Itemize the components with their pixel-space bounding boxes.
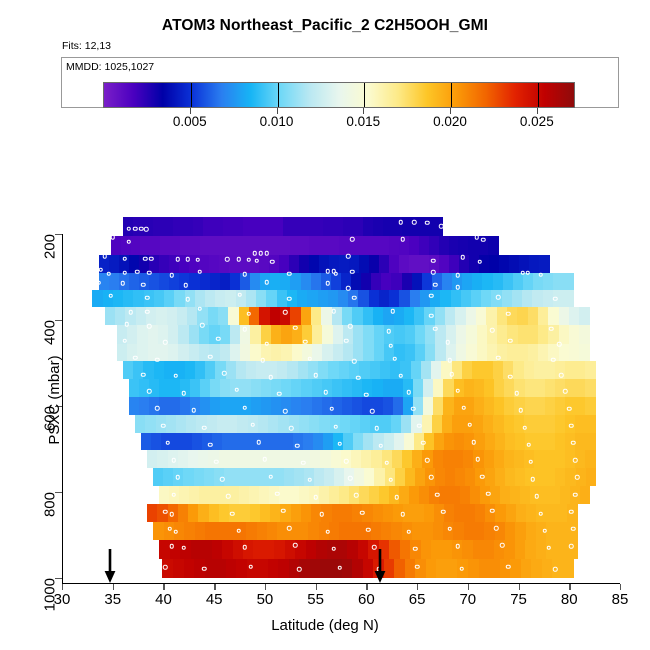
observation-marker <box>307 356 312 361</box>
observation-marker <box>401 512 406 517</box>
heatmap-cell <box>117 344 128 361</box>
observation-marker <box>455 273 460 278</box>
observation-marker <box>144 227 149 232</box>
heatmap-cell <box>159 486 170 504</box>
y-tick-label: 200 <box>42 234 59 259</box>
heatmap-cell <box>218 307 229 325</box>
heatmap-cell <box>347 540 358 558</box>
heatmap-cell <box>310 559 321 578</box>
observation-marker <box>169 512 174 517</box>
heatmap-cell <box>495 522 506 540</box>
heatmap-cell <box>585 415 596 433</box>
heatmap-cell <box>409 486 420 504</box>
observation-marker <box>449 372 454 377</box>
heatmap-cell <box>557 522 568 540</box>
observation-marker <box>346 254 351 259</box>
heatmap-cell <box>452 415 463 433</box>
heatmap-cell <box>517 307 528 325</box>
observation-marker <box>287 271 292 276</box>
heatmap-cell <box>184 522 195 540</box>
heatmap-cell <box>215 361 226 379</box>
heatmap-cell <box>333 325 344 343</box>
heatmap-cell <box>191 540 202 558</box>
heatmap-cell <box>384 433 395 451</box>
heatmap-cell <box>151 433 162 451</box>
heatmap-cell <box>249 307 260 325</box>
heatmap-panel <box>62 205 620 583</box>
observation-marker <box>226 494 231 499</box>
heatmap-cell <box>228 307 239 325</box>
heatmap-cell <box>458 236 469 254</box>
heatmap-cell <box>465 504 476 522</box>
observation-marker <box>522 425 527 430</box>
heatmap-cell <box>405 344 416 361</box>
heatmap-cell <box>555 397 566 415</box>
heatmap-cell <box>277 522 288 540</box>
heatmap-cell <box>495 468 506 486</box>
heatmap-cell <box>268 559 279 578</box>
heatmap-cell <box>205 290 216 307</box>
heatmap-cell <box>170 379 181 397</box>
heatmap-cell <box>393 379 404 397</box>
heatmap-cell <box>131 236 142 254</box>
observation-marker <box>575 475 580 480</box>
heatmap-cell <box>262 433 273 451</box>
observation-marker <box>155 406 160 411</box>
heatmap-cell <box>163 217 174 236</box>
heatmap-cell <box>177 307 188 325</box>
observation-marker <box>508 375 513 380</box>
heatmap-cell <box>309 236 320 254</box>
heatmap-cell <box>301 397 312 415</box>
observation-marker <box>202 425 207 430</box>
heatmap-cell <box>575 379 586 397</box>
heatmap-cell <box>391 415 402 433</box>
observation-marker <box>514 391 519 396</box>
observation-marker <box>490 328 495 333</box>
colorbar <box>103 82 575 108</box>
observation-marker <box>390 309 395 314</box>
heatmap-cell <box>195 361 206 379</box>
heatmap-cell <box>433 379 444 397</box>
observation-marker <box>425 221 430 226</box>
heatmap-cell <box>429 236 440 254</box>
heatmap-cell <box>435 468 446 486</box>
observation-marker <box>472 440 477 445</box>
heatmap-cell <box>540 486 551 504</box>
heatmap-cell <box>250 504 261 522</box>
heatmap-cell <box>236 559 247 578</box>
heatmap-cell <box>352 379 363 397</box>
heatmap-cell <box>268 415 279 433</box>
observation-marker <box>520 270 525 275</box>
heatmap-cell <box>497 307 508 325</box>
observation-marker <box>242 545 247 550</box>
heatmap-cell <box>220 344 231 361</box>
heatmap-cell <box>185 361 196 379</box>
observation-marker <box>326 529 331 534</box>
heatmap-cell <box>150 236 161 254</box>
heatmap-cell <box>504 540 515 558</box>
heatmap-cell <box>229 486 240 504</box>
colorbar-gradient <box>104 83 574 107</box>
heatmap-cell <box>472 361 483 379</box>
heatmap-cell <box>563 290 574 307</box>
heatmap-cell <box>272 433 283 451</box>
heatmap-cell <box>159 273 170 290</box>
heatmap-cell <box>449 236 460 254</box>
observation-marker <box>255 258 260 263</box>
heatmap-cell <box>187 307 198 325</box>
observation-marker <box>261 358 266 363</box>
heatmap-cell <box>494 397 505 415</box>
heatmap-cell <box>494 379 505 397</box>
heatmap-cell <box>312 379 323 397</box>
heatmap-cell <box>465 468 476 486</box>
heatmap-cell <box>509 255 520 273</box>
observation-marker <box>171 458 176 463</box>
heatmap-cell <box>405 325 416 343</box>
heatmap-cell <box>433 450 444 468</box>
heatmap-cell <box>381 273 392 290</box>
observation-marker <box>125 322 130 327</box>
heatmap-cell <box>485 468 496 486</box>
heatmap-cell <box>354 468 365 486</box>
observation-marker <box>462 405 467 410</box>
heatmap-cell <box>288 522 299 540</box>
heatmap-cell <box>178 325 189 343</box>
heatmap-cell <box>426 559 437 578</box>
observation-marker <box>236 528 241 533</box>
heatmap-cell <box>280 236 291 254</box>
heatmap-cell <box>556 540 567 558</box>
observation-marker <box>338 565 343 570</box>
heatmap-cell <box>371 450 382 468</box>
heatmap-cell <box>189 325 200 343</box>
observation-marker <box>494 526 499 531</box>
observation-marker <box>350 270 355 275</box>
observation-marker <box>518 408 523 413</box>
heatmap-cell <box>147 450 158 468</box>
heatmap-cell <box>180 236 191 254</box>
heatmap-cell <box>284 468 295 486</box>
colorbar-divider <box>451 83 452 107</box>
heatmap-cell <box>277 290 288 307</box>
observation-marker <box>338 442 343 447</box>
profile-marker-1 <box>104 549 116 583</box>
heatmap-cell <box>483 415 494 433</box>
heatmap-cell <box>339 486 350 504</box>
observation-marker <box>567 406 572 411</box>
heatmap-cell <box>246 522 257 540</box>
heatmap-cell <box>250 325 261 343</box>
observation-marker <box>265 251 270 256</box>
heatmap-cell <box>220 273 231 290</box>
observation-marker <box>460 255 465 260</box>
observation-marker <box>496 356 501 361</box>
heatmap-cell <box>178 450 189 468</box>
heatmap-cell <box>308 522 319 540</box>
y-tick-label: 400 <box>42 320 59 345</box>
heatmap-cell <box>383 217 394 236</box>
heatmap-cell <box>324 468 335 486</box>
heatmap-cell <box>413 379 424 397</box>
heatmap-cell <box>389 540 400 558</box>
heatmap-cell <box>506 504 517 522</box>
heatmap-cell <box>127 325 138 343</box>
heatmap-cell <box>209 486 220 504</box>
heatmap-cell <box>510 486 521 504</box>
observation-marker <box>147 270 152 275</box>
observation-marker <box>573 492 578 497</box>
heatmap-band <box>135 415 596 433</box>
heatmap-cell <box>210 397 221 415</box>
y-tick-label: 800 <box>42 492 59 517</box>
heatmap-cell <box>200 379 211 397</box>
heatmap-cell <box>543 273 554 290</box>
heatmap-cell <box>464 522 475 540</box>
observation-marker <box>173 374 178 379</box>
heatmap-cell <box>394 307 405 325</box>
heatmap-cell <box>173 559 184 578</box>
observation-marker <box>163 510 168 515</box>
heatmap-cell <box>270 273 281 290</box>
heatmap-cell <box>283 433 294 451</box>
observation-marker <box>257 440 262 445</box>
x-tick-label: 60 <box>358 591 375 608</box>
heatmap-cell <box>504 397 515 415</box>
plot-canvas: ATOM3 Northeast_Pacific_2 C2H5OOH_GMI Fi… <box>0 0 650 650</box>
observation-marker <box>399 220 404 225</box>
heatmap-cell <box>281 325 292 343</box>
heatmap-cell <box>439 486 450 504</box>
heatmap-cell <box>332 504 343 522</box>
heatmap-cell <box>351 450 362 468</box>
heatmap-cell <box>490 486 501 504</box>
heatmap-cell <box>230 273 241 290</box>
heatmap-cell <box>565 379 576 397</box>
heatmap-cell <box>559 325 570 343</box>
heatmap-cell <box>253 217 264 236</box>
x-tick <box>265 584 266 590</box>
observation-marker <box>269 474 274 479</box>
observation-marker <box>429 313 434 318</box>
heatmap-cell <box>516 504 527 522</box>
heatmap-cell <box>531 559 542 578</box>
heatmap-cell <box>450 486 461 504</box>
heatmap-cell <box>358 540 369 558</box>
heatmap-cell <box>431 361 442 379</box>
heatmap-cell <box>544 361 555 379</box>
observation-marker <box>557 342 562 347</box>
observation-marker <box>225 257 230 262</box>
observation-marker <box>559 373 564 378</box>
heatmap-cell <box>443 397 454 415</box>
heatmap-cell <box>178 344 189 361</box>
observation-marker <box>490 509 495 514</box>
page-title: ATOM3 Northeast_Pacific_2 C2H5OOH_GMI <box>0 17 650 35</box>
heatmap-cell <box>409 236 420 254</box>
observation-marker <box>265 341 270 346</box>
heatmap-cell <box>513 361 524 379</box>
heatmap-cell <box>273 217 284 236</box>
heatmap-cell <box>311 307 322 325</box>
heatmap-cell <box>258 415 269 433</box>
heatmap-cell <box>129 397 140 415</box>
observation-marker <box>435 492 440 497</box>
observation-marker <box>447 358 452 363</box>
colorbar-divider <box>191 83 192 107</box>
heatmap-cell <box>313 433 324 451</box>
observation-marker <box>186 297 191 302</box>
heatmap-cell <box>323 433 334 451</box>
x-tick <box>163 584 164 590</box>
heatmap-cell <box>297 290 308 307</box>
heatmap-cell <box>384 325 395 343</box>
heatmap-cell <box>455 468 466 486</box>
observation-marker <box>293 543 298 548</box>
heatmap-cell <box>431 540 442 558</box>
observation-marker <box>431 270 436 275</box>
heatmap-cell <box>382 450 393 468</box>
heatmap-cell <box>454 504 465 522</box>
heatmap-cell <box>473 415 484 433</box>
heatmap-cell <box>226 522 237 540</box>
heatmap-cell <box>135 415 146 433</box>
observation-marker <box>354 493 359 498</box>
heatmap-cell <box>230 236 241 254</box>
heatmap-cell <box>179 486 190 504</box>
heatmap-cell <box>415 325 426 343</box>
heatmap-cell <box>393 397 404 415</box>
heatmap-cell <box>421 361 432 379</box>
heatmap-cell <box>514 450 525 468</box>
observation-marker <box>563 389 568 394</box>
heatmap-cell <box>301 504 312 522</box>
observation-marker <box>141 282 146 287</box>
heatmap-cell <box>391 522 402 540</box>
heatmap-cell <box>369 486 380 504</box>
heatmap-cell <box>548 307 559 325</box>
observation-marker <box>169 544 174 549</box>
heatmap-cell <box>222 433 233 451</box>
heatmap-cell <box>503 273 514 290</box>
heatmap-cell <box>196 415 207 433</box>
heatmap-cell <box>188 504 199 522</box>
heatmap-cell <box>454 379 465 397</box>
heatmap-cell <box>219 450 230 468</box>
observation-marker <box>324 390 329 395</box>
heatmap-cell <box>586 468 597 486</box>
heatmap-cell <box>526 504 537 522</box>
heatmap-cell <box>394 433 405 451</box>
y-tick-label: 1000 <box>42 578 59 611</box>
heatmap-cell <box>240 236 251 254</box>
observation-marker <box>407 529 412 534</box>
observation-marker <box>348 476 353 481</box>
heatmap-cell <box>319 415 330 433</box>
heatmap-cell <box>371 273 382 290</box>
heatmap-cell <box>482 273 493 290</box>
heatmap-cell <box>332 397 343 415</box>
observation-marker <box>283 310 288 315</box>
observation-marker <box>147 324 152 329</box>
observation-marker <box>330 406 335 411</box>
heatmap-cell <box>353 433 364 451</box>
heatmap-cell <box>504 415 515 433</box>
heatmap-cell <box>522 290 533 307</box>
heatmap-cell <box>183 217 194 236</box>
observation-marker <box>175 257 180 262</box>
heatmap-cell <box>510 559 521 578</box>
heatmap-cell <box>318 290 329 307</box>
heatmap-cell <box>434 433 445 451</box>
heatmap-cell <box>291 379 302 397</box>
colorbar-tick-label: 0.020 <box>433 114 467 129</box>
heatmap-cell <box>373 504 384 522</box>
heatmap-cell <box>515 522 526 540</box>
heatmap-cell <box>113 290 124 307</box>
observation-marker <box>149 256 154 261</box>
heatmap-cell <box>379 236 390 254</box>
heatmap-cell <box>350 522 361 540</box>
observation-marker <box>455 285 460 290</box>
heatmap-cell <box>435 344 446 361</box>
heatmap-cell <box>419 255 430 273</box>
observation-marker <box>332 547 337 552</box>
observation-marker <box>425 458 430 463</box>
heatmap-cell <box>223 217 234 236</box>
heatmap-cell <box>323 217 334 236</box>
heatmap-cell <box>379 290 390 307</box>
heatmap-cell <box>453 450 464 468</box>
heatmap-cell <box>360 415 371 433</box>
heatmap-cell <box>300 450 311 468</box>
observation-marker <box>307 478 312 483</box>
heatmap-cell <box>147 504 158 522</box>
heatmap-cell <box>524 415 535 433</box>
observation-marker <box>246 311 251 316</box>
heatmap-cell <box>139 397 150 415</box>
observation-marker <box>352 359 357 364</box>
heatmap-cell <box>579 325 590 343</box>
observation-marker <box>175 475 180 480</box>
heatmap-cell <box>278 415 289 433</box>
heatmap-cell <box>312 344 323 361</box>
heatmap-cell <box>290 236 301 254</box>
heatmap-cell <box>466 307 477 325</box>
heatmap-band <box>129 397 596 415</box>
heatmap-cell <box>444 433 455 451</box>
heatmap-cell <box>432 415 443 433</box>
observation-marker <box>123 257 128 262</box>
observation-marker <box>198 307 203 312</box>
heatmap-cell <box>209 504 220 522</box>
observation-marker <box>135 270 140 275</box>
x-tick-label: 35 <box>104 591 121 608</box>
observation-marker <box>145 295 150 300</box>
heatmap-cell <box>579 307 590 325</box>
heatmap-cell <box>208 307 219 325</box>
x-tick <box>468 584 469 590</box>
heatmap-cell <box>328 361 339 379</box>
observation-marker <box>360 510 365 515</box>
heatmap-cell <box>555 468 566 486</box>
observation-marker <box>208 442 213 447</box>
observation-marker <box>429 294 434 299</box>
heatmap-cell <box>452 540 463 558</box>
observation-marker <box>275 491 280 496</box>
